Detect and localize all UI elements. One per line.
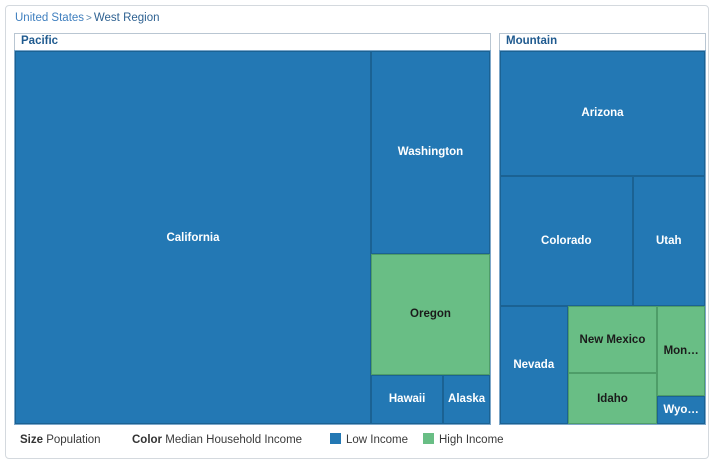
treemap-tile-colorado[interactable]: Colorado (500, 176, 633, 306)
treemap-tile-label: Nevada (511, 359, 556, 371)
treemap-tile-label: Hawaii (387, 393, 427, 405)
treemap-tile-california[interactable]: California (15, 51, 371, 424)
legend-swatch-low-income-icon (330, 433, 341, 444)
legend-size-encoding: Size Population (20, 433, 101, 447)
legend-color-encoding: Color Median Household Income (132, 433, 302, 447)
treemap-panels: Pacific CaliforniaWashingtonOregonHawaii… (14, 33, 706, 425)
breadcrumb-item-united-states[interactable]: United States (15, 12, 84, 24)
legend-color-key: Color (132, 434, 162, 446)
treemap-tile-alaska[interactable]: Alaska (443, 375, 490, 424)
legend-size-value: Population (46, 434, 100, 446)
treemap-tile-new-mexico[interactable]: New Mexico (568, 306, 658, 373)
group-tiles-mountain: ArizonaColoradoUtahNevadaNew MexicoIdaho… (499, 50, 706, 425)
treemap-tile-label: Mon… (662, 345, 701, 357)
treemap-tile-label: Idaho (595, 393, 630, 405)
chart-legend: Size Population Color Median Household I… (6, 427, 709, 457)
treemap-tile-label: Arizona (579, 107, 625, 119)
treemap-tile-label: Wyo… (661, 404, 701, 416)
group-header-pacific[interactable]: Pacific (14, 33, 491, 50)
treemap-tile-utah[interactable]: Utah (633, 176, 705, 306)
legend-color-value: Median Household Income (165, 434, 302, 446)
breadcrumb-item-west-region[interactable]: West Region (94, 12, 160, 24)
legend-entry-high-income[interactable]: High Income (423, 433, 504, 447)
legend-label-high-income: High Income (439, 434, 504, 446)
treemap-group-mountain: Mountain ArizonaColoradoUtahNevadaNew Me… (499, 33, 706, 425)
treemap-widget: United States>West Region Pacific Califo… (5, 5, 709, 459)
treemap-tile-label: Utah (654, 235, 684, 247)
treemap-group-pacific: Pacific CaliforniaWashingtonOregonHawaii… (14, 33, 491, 425)
legend-size-key: Size (20, 434, 43, 446)
treemap-tile-label: Washington (396, 146, 465, 158)
treemap-tile-label: Colorado (539, 235, 593, 247)
group-tiles-pacific: CaliforniaWashingtonOregonHawaiiAlaska (14, 50, 491, 425)
treemap-tile-idaho[interactable]: Idaho (568, 373, 658, 424)
legend-swatch-high-income-icon (423, 433, 434, 444)
treemap-tile-mon[interactable]: Mon… (657, 306, 705, 396)
treemap-tile-wyo[interactable]: Wyo… (657, 396, 705, 424)
treemap-tile-nevada[interactable]: Nevada (500, 306, 568, 424)
treemap-tile-label: California (164, 232, 221, 244)
treemap-tile-label: Alaska (446, 393, 487, 405)
treemap-tile-washington[interactable]: Washington (371, 51, 490, 254)
treemap-tile-label: Oregon (408, 308, 453, 320)
group-header-mountain[interactable]: Mountain (499, 33, 706, 50)
treemap-tile-arizona[interactable]: Arizona (500, 51, 705, 176)
breadcrumb-separator-icon: > (84, 13, 94, 24)
breadcrumb: United States>West Region (6, 6, 709, 32)
legend-label-low-income: Low Income (346, 434, 408, 446)
treemap-tile-oregon[interactable]: Oregon (371, 254, 490, 375)
legend-entry-low-income[interactable]: Low Income (330, 433, 408, 447)
treemap-tile-label: New Mexico (578, 334, 648, 346)
treemap-tile-hawaii[interactable]: Hawaii (371, 375, 443, 424)
